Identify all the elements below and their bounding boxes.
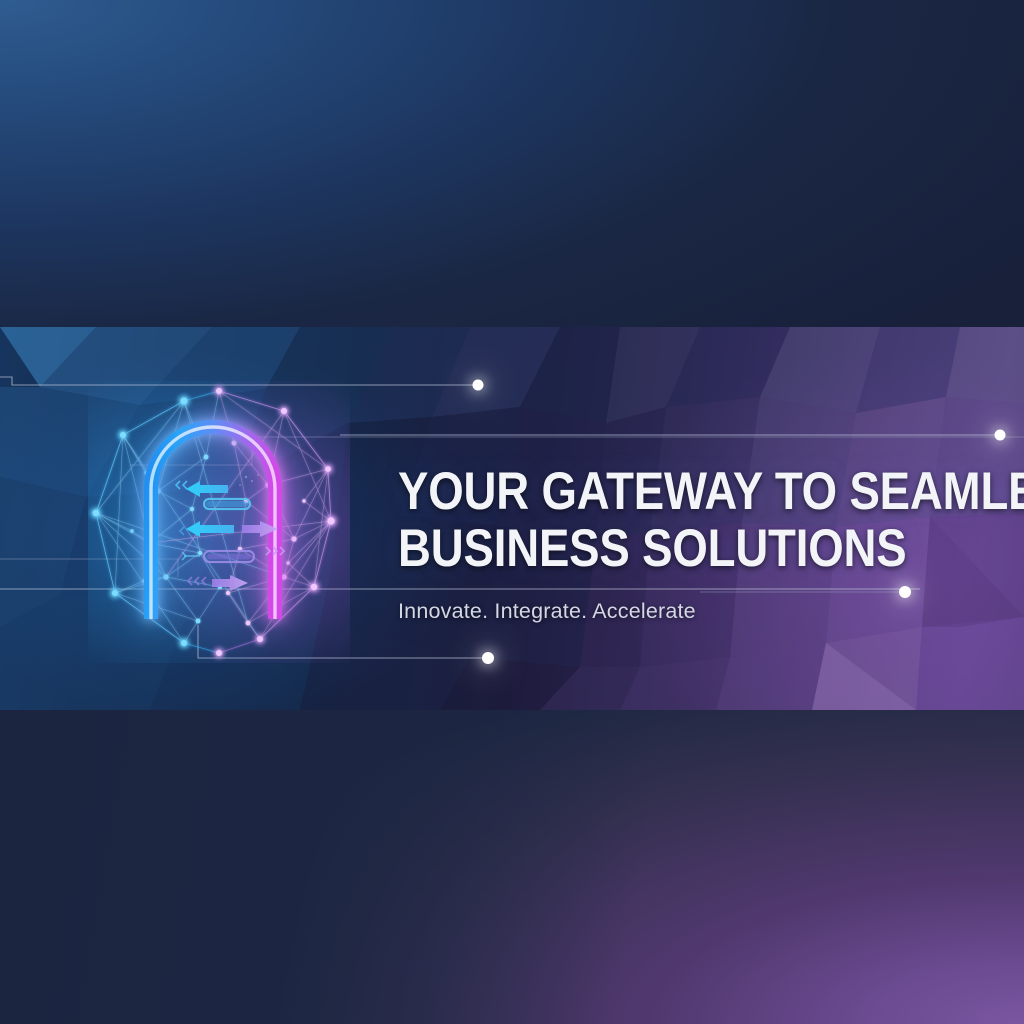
trace-node xyxy=(482,652,494,664)
backdrop-bottom-gradient xyxy=(0,694,1024,1024)
banner-subtitle: Innovate. Integrate. Accelerate xyxy=(398,577,998,624)
hero-banner: YOUR GATEWAY TO SEAMLESS BUSINESS SOLUTI… xyxy=(0,327,1024,710)
trace-node xyxy=(995,430,1006,441)
banner-copy: YOUR GATEWAY TO SEAMLESS BUSINESS SOLUTI… xyxy=(398,463,998,624)
headline-line-1: YOUR GATEWAY TO SEAMLESS xyxy=(398,463,914,520)
trace-node xyxy=(473,380,484,391)
gateway-arch-network-logo xyxy=(88,381,350,663)
headline-line-2: BUSINESS SOLUTIONS xyxy=(398,520,914,577)
backdrop-top-gradient xyxy=(0,0,1024,330)
